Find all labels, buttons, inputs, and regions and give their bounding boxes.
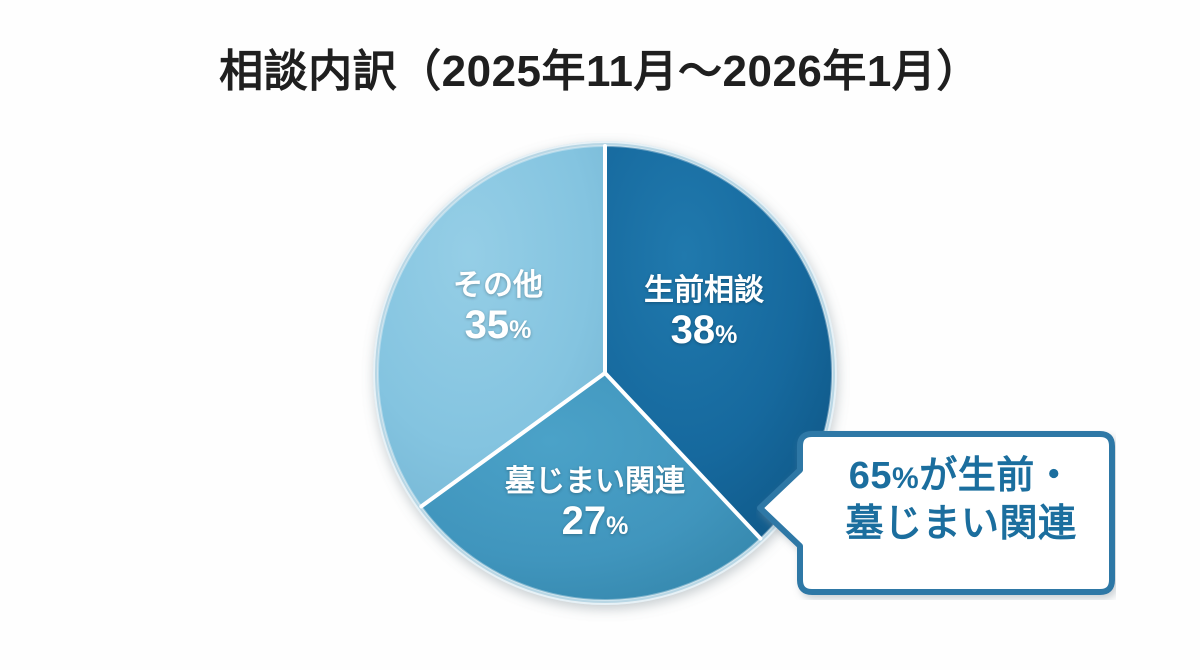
chart-canvas: 相談内訳（2025年11月～2026年1月） xyxy=(0,0,1200,670)
callout-balloon-path xyxy=(760,434,1112,592)
highlight-callout: 65%が生前・ 墓じまい関連 xyxy=(756,430,1116,600)
chart-title: 相談内訳（2025年11月～2026年1月） xyxy=(0,48,1200,96)
highlight-callout-shape xyxy=(756,430,1116,600)
